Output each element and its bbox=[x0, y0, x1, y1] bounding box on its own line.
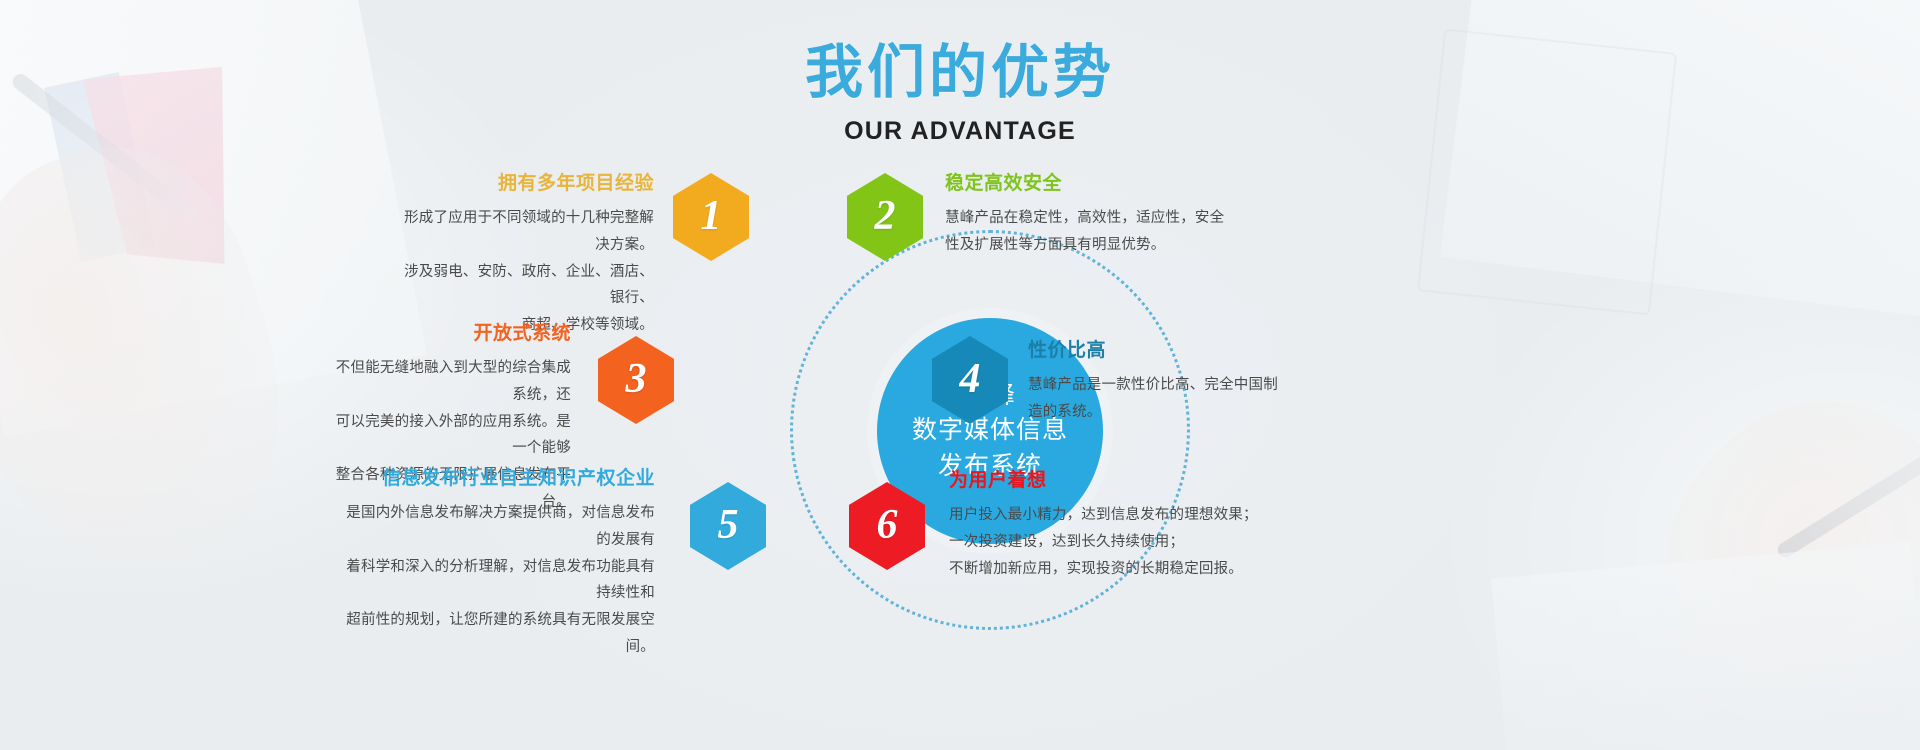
advantage-body-4: 慧峰产品是一款性价比高、完全中国制 造的系统。 bbox=[1028, 372, 1308, 426]
advantage-body-5: 是国内外信息发布解决方案提供商，对信息发布的发展有 着科学和深入的分析理解，对信… bbox=[335, 500, 655, 661]
hex-number-5: 5 bbox=[718, 504, 739, 546]
advantage-body-2: 慧峰产品在稳定性，高效性，适应性，安全 性及扩展性等方面具有明显优势。 bbox=[945, 205, 1235, 259]
advantage-heading-6: 为用户着想 bbox=[949, 465, 1279, 492]
hex-badge-3[interactable]: 3 bbox=[598, 336, 674, 424]
hex-number-4: 4 bbox=[960, 358, 981, 400]
advantage-heading-4: 性价比高 bbox=[1028, 335, 1308, 362]
advantage-heading-5: 信息发布行业自主知识产权企业 bbox=[335, 463, 655, 490]
advantage-body-6-line-2: 一次投资建设，达到长久持续使用； bbox=[949, 529, 1279, 556]
advantage-body-6: 用户投入最小精力，达到信息发布的理想效果； 一次投资建设，达到长久持续使用； 不… bbox=[949, 502, 1279, 582]
advantage-block-4: 性价比高 慧峰产品是一款性价比高、完全中国制 造的系统。 bbox=[1028, 335, 1308, 426]
hex-number-1: 1 bbox=[701, 195, 722, 237]
advantage-body-4-line-1: 慧峰产品是一款性价比高、完全中国制 bbox=[1028, 372, 1308, 399]
advantage-infographic: 我们的优势 OUR ADVANTAGE 慧峰 数字媒体信息 发布系统 1 2 3… bbox=[0, 0, 1920, 750]
advantage-block-6: 为用户着想 用户投入最小精力，达到信息发布的理想效果； 一次投资建设，达到长久持… bbox=[949, 465, 1279, 582]
hex-number-2: 2 bbox=[875, 195, 896, 237]
hex-number-3: 3 bbox=[626, 358, 647, 400]
advantage-heading-1: 拥有多年项目经验 bbox=[404, 168, 654, 195]
advantage-body-6-line-1: 用户投入最小精力，达到信息发布的理想效果； bbox=[949, 502, 1279, 529]
advantage-body-1-line-2: 涉及弱电、安防、政府、企业、酒店、银行、 bbox=[404, 259, 654, 313]
advantage-block-2: 稳定高效安全 慧峰产品在稳定性，高效性，适应性，安全 性及扩展性等方面具有明显优… bbox=[945, 168, 1235, 259]
advantage-body-1-line-1: 形成了应用于不同领域的十几种完整解决方案。 bbox=[404, 205, 654, 259]
advantage-diagram: 慧峰 数字媒体信息 发布系统 1 2 3 4 5 6 拥有多年项目经验 形成了应… bbox=[0, 0, 1920, 750]
hex-number-6: 6 bbox=[877, 504, 898, 546]
advantage-body-3-line-1: 不但能无缝地融入到大型的综合集成系统，还 bbox=[333, 355, 571, 409]
advantage-body-6-line-3: 不断增加新应用，实现投资的长期稳定回报。 bbox=[949, 556, 1279, 583]
advantage-body-5-line-3: 超前性的规划，让您所建的系统具有无限发展空间。 bbox=[335, 607, 655, 661]
advantage-block-5: 信息发布行业自主知识产权企业 是国内外信息发布解决方案提供商，对信息发布的发展有… bbox=[335, 463, 655, 661]
advantage-body-2-line-1: 慧峰产品在稳定性，高效性，适应性，安全 bbox=[945, 205, 1235, 232]
advantage-body-3-line-2: 可以完美的接入外部的应用系统。是一个能够 bbox=[333, 409, 571, 463]
hex-badge-1[interactable]: 1 bbox=[673, 173, 749, 261]
advantage-heading-3: 开放式系统 bbox=[333, 318, 571, 345]
advantage-block-1: 拥有多年项目经验 形成了应用于不同领域的十几种完整解决方案。 涉及弱电、安防、政… bbox=[404, 168, 654, 339]
hex-badge-5[interactable]: 5 bbox=[690, 482, 766, 570]
advantage-heading-2: 稳定高效安全 bbox=[945, 168, 1235, 195]
advantage-body-5-line-1: 是国内外信息发布解决方案提供商，对信息发布的发展有 bbox=[335, 500, 655, 554]
advantage-body-2-line-2: 性及扩展性等方面具有明显优势。 bbox=[945, 232, 1235, 259]
advantage-body-4-line-2: 造的系统。 bbox=[1028, 399, 1308, 426]
advantage-body-5-line-2: 着科学和深入的分析理解，对信息发布功能具有持续性和 bbox=[335, 554, 655, 608]
